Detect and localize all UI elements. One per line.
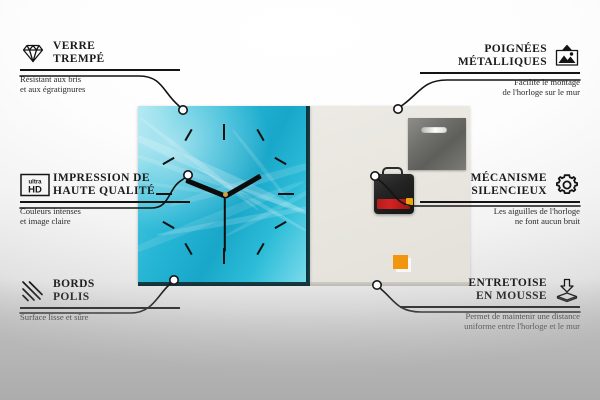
callout-title-line1: BORDS	[53, 278, 95, 291]
callout-title-line2: EN MOUSSE	[400, 290, 547, 303]
callout-desc-line1: Permet de maintenir une distance	[400, 311, 580, 322]
callout-poignees-metalliques: POIGNÉES MÉTALLIQUES Facilite le montage…	[420, 43, 580, 98]
callout-title-line1: MÉCANISME	[420, 172, 547, 185]
callout-title-line2: HAUTE QUALITÉ	[53, 185, 155, 198]
callout-title-line1: VERRE	[53, 40, 105, 53]
diamond-icon	[20, 40, 46, 66]
callout-title-line2: MÉTALLIQUES	[420, 56, 547, 69]
callout-desc-line1: Couleurs intenses	[20, 206, 190, 217]
callout-title: POIGNÉES MÉTALLIQUES	[420, 43, 547, 69]
callout-rule	[20, 201, 190, 203]
callout-rule	[20, 69, 180, 71]
callout-entretoise-en-mousse: ENTRETOISE EN MOUSSE Permet de maintenir…	[400, 277, 580, 332]
callout-desc-line1: Les aiguilles de l'horloge	[420, 206, 580, 217]
callout-mecanisme-silencieux: MÉCANISME SILENCIEUX Les aiguilles de l'…	[420, 172, 580, 227]
callout-rule	[420, 201, 580, 203]
callout-title: IMPRESSION DE HAUTE QUALITÉ	[53, 172, 155, 198]
connector-dot-mecanisme	[371, 172, 379, 180]
ultra-hd-icon: ultra HD	[20, 172, 46, 198]
connector-dot-entretoise	[373, 281, 381, 289]
callout-desc-line1: Facilite le montage	[420, 77, 580, 88]
callout-desc-line1: Surface lisse et sûre	[20, 312, 180, 323]
callout-verre-trempe: VERRE TREMPÉ Résistant aux bris et aux é…	[20, 40, 180, 95]
callout-title: VERRE TREMPÉ	[53, 40, 105, 66]
polished-edges-icon	[20, 278, 46, 304]
connector-dot-verre-trempe	[179, 106, 187, 114]
callout-desc-line2: uniforme entre l'horloge et le mur	[400, 321, 580, 332]
callout-title-line1: POIGNÉES	[420, 43, 547, 56]
callout-rule	[400, 306, 580, 308]
callout-impression-haute-qualite: ultra HD IMPRESSION DE HAUTE QUALITÉ Cou…	[20, 172, 190, 227]
callout-desc-line2: et image claire	[20, 216, 190, 227]
callout-rule	[420, 72, 580, 74]
callout-title: MÉCANISME SILENCIEUX	[420, 172, 547, 198]
callout-desc-line1: Résistant aux bris	[20, 74, 180, 85]
callout-title: BORDS POLIS	[53, 278, 95, 304]
callout-desc-line2: et aux égratignures	[20, 84, 180, 95]
gear-icon	[554, 172, 580, 198]
callout-title-line2: POLIS	[53, 291, 95, 304]
callout-title-line2: TREMPÉ	[53, 53, 105, 66]
picture-frame-hanging-icon	[554, 43, 580, 69]
callout-rule	[20, 307, 180, 309]
callout-desc-line2: ne font aucun bruit	[420, 216, 580, 227]
callout-title: ENTRETOISE EN MOUSSE	[400, 277, 547, 303]
svg-text:HD: HD	[28, 185, 42, 196]
callout-title-line1: ENTRETOISE	[400, 277, 547, 290]
connector-dot-poignees	[394, 105, 402, 113]
callout-title-line1: IMPRESSION DE	[53, 172, 155, 185]
callout-title-line2: SILENCIEUX	[420, 185, 547, 198]
callout-desc-line2: de l'horloge sur le mur	[420, 87, 580, 98]
callout-bords-polis: BORDS POLIS Surface lisse et sûre	[20, 278, 180, 322]
infographic-poster: VERRE TREMPÉ Résistant aux bris et aux é…	[0, 0, 600, 400]
down-arrow-pad-icon	[554, 277, 580, 303]
